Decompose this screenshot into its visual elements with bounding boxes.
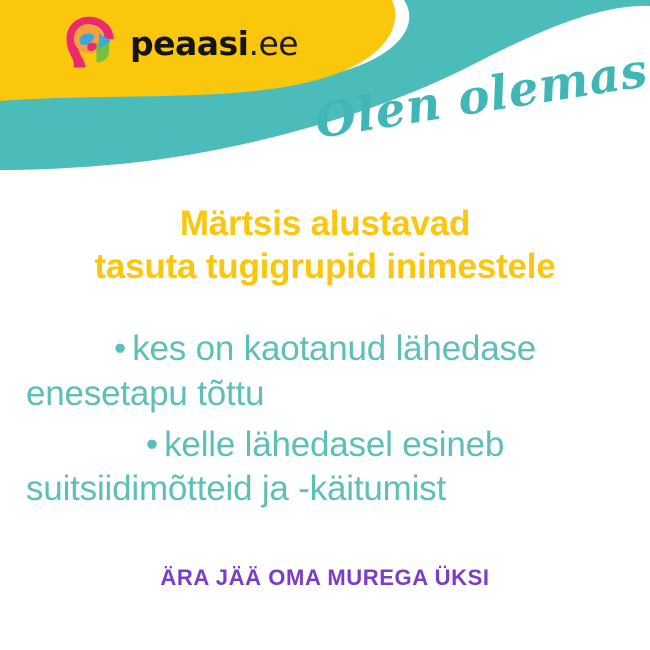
peaasi-head-brain-icon	[62, 14, 120, 72]
script-text: Olen olemas!	[311, 40, 650, 150]
bullet-text-1: kelle lähedasel esineb	[164, 425, 504, 464]
headline-line-1: Märtsis alustavad	[18, 203, 632, 246]
list-item: •kes on kaotanud lähedase enesetapu tõtt…	[26, 327, 624, 417]
list-item: •kelle lähedasel esineb suitsiidimõtteid…	[26, 423, 624, 513]
target-group-list: •kes on kaotanud lähedase enesetapu tõtt…	[0, 327, 650, 518]
bullet-marker: •	[114, 329, 132, 368]
brand-wordmark-main: peaasi	[130, 24, 249, 63]
page-title: Märtsis alustavad tasuta tugigrupid inim…	[0, 203, 650, 288]
brand-wordmark-tld: .ee	[249, 24, 299, 63]
bullet-marker: •	[146, 425, 164, 464]
brand-wordmark: peaasi.ee	[130, 27, 298, 60]
brand-logo[interactable]: peaasi.ee	[62, 14, 298, 72]
bullet-line-first: •kelle lähedasel esineb	[26, 423, 624, 468]
poster-canvas: peaasi.ee Olen olemas! Märtsis alustavad…	[0, 0, 650, 650]
bullet-line-first: •kes on kaotanud lähedase	[26, 327, 624, 372]
headline-line-2: tasuta tugigrupid inimestele	[18, 246, 632, 289]
footer-tagline: ÄRA JÄÄ OMA MUREGA ÜKSI	[0, 565, 650, 591]
bullet-text-1: kes on kaotanud lähedase	[132, 329, 536, 368]
handwritten-script: Olen olemas!	[318, 86, 648, 156]
bullet-text-2: suitsiidimõtteid ja -käitumist	[26, 467, 624, 512]
bullet-text-2: enesetapu tõttu	[26, 372, 624, 417]
